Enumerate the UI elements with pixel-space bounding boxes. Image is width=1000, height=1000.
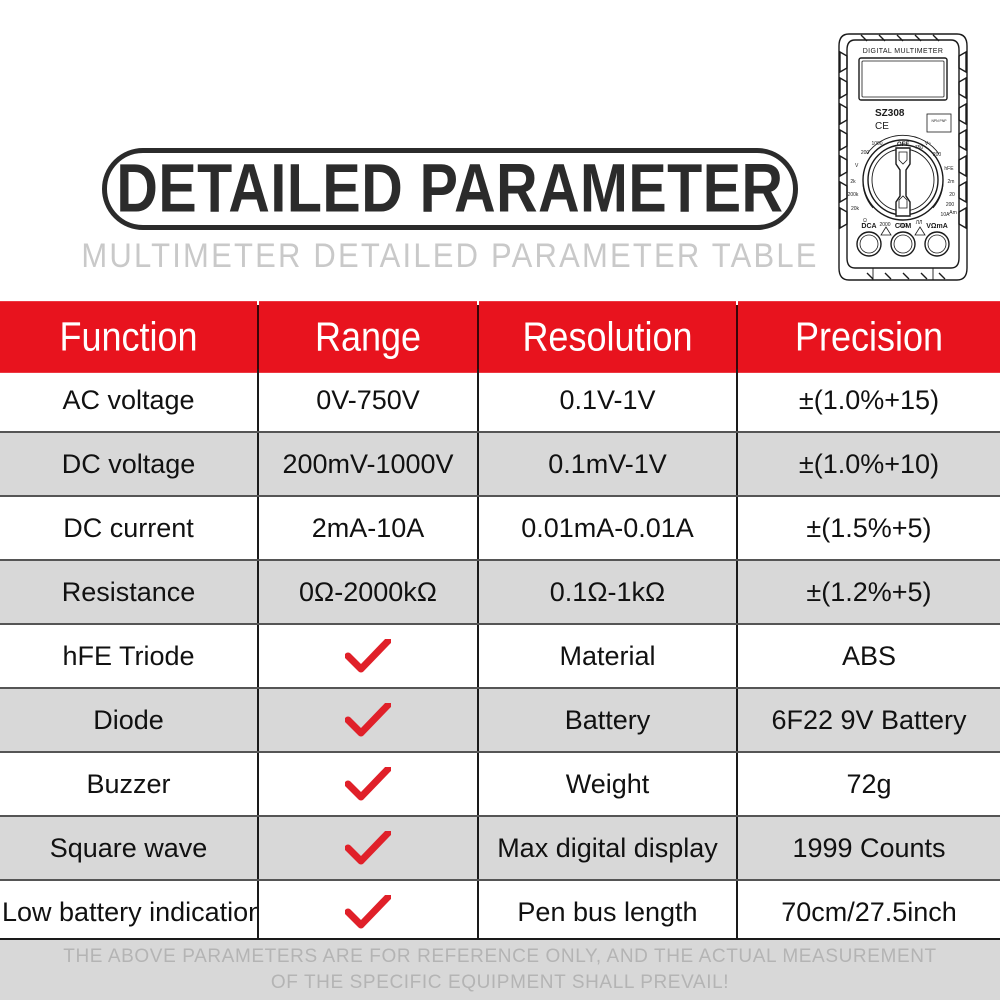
dial-off-label: OFF bbox=[897, 142, 909, 148]
table-row: DiodeBattery6F22 9V Battery bbox=[0, 688, 1000, 752]
table-cell: 0.01mA-0.01A bbox=[478, 496, 737, 560]
table-cell: DC current bbox=[0, 496, 258, 560]
table-cell: ABS bbox=[737, 624, 1000, 688]
table-row: DC current2mA-10A0.01mA-0.01A±(1.5%+5) bbox=[0, 496, 1000, 560]
dial-tick-vac: V~ bbox=[925, 141, 931, 147]
table-header-row: Function Range Resolution Precision bbox=[0, 305, 1000, 369]
supported-check-icon bbox=[258, 624, 478, 688]
column-header-precision: Precision bbox=[737, 301, 1000, 373]
dial-tick-vdc: V bbox=[855, 163, 859, 169]
table-cell: 6F22 9V Battery bbox=[737, 688, 1000, 752]
table-cell: Battery bbox=[478, 688, 737, 752]
dial-tick-hfe: hFE bbox=[944, 166, 954, 172]
table-cell: Diode bbox=[0, 688, 258, 752]
table-cell: Low battery indication bbox=[0, 880, 258, 944]
supported-check-icon bbox=[258, 816, 478, 880]
dial-tick-diode: 200 bbox=[899, 223, 908, 229]
jack-label-vohmma: VΩmA bbox=[926, 223, 948, 230]
dial-tick-200: 200 bbox=[861, 150, 870, 156]
supported-check-icon bbox=[258, 688, 478, 752]
multimeter-product-image: DIGITAL MULTIMETER SZ308 CE OFF DCA COM … bbox=[833, 28, 973, 286]
table-cell: ±(1.5%+5) bbox=[737, 496, 1000, 560]
header-banner: DETAILED PARAMETER MULTIMETER DETAILED P… bbox=[0, 0, 1000, 305]
table-cell: 1999 Counts bbox=[737, 816, 1000, 880]
disclaimer-note: THE ABOVE PARAMETERS ARE FOR REFERENCE O… bbox=[0, 938, 1000, 1000]
dial-tick-2000ohm: 2000 bbox=[879, 222, 890, 228]
table-cell: Resistance bbox=[0, 560, 258, 624]
table-cell: 200mV-1000V bbox=[258, 432, 478, 496]
table-cell: Material bbox=[478, 624, 737, 688]
dial-tick-200m: 200 bbox=[946, 202, 955, 208]
supported-check-icon bbox=[258, 752, 478, 816]
page-subtitle: MULTIMETER DETAILED PARAMETER TABLE bbox=[0, 236, 900, 276]
table-cell: 0.1V-1V bbox=[478, 369, 737, 432]
table-row: hFE TriodeMaterialABS bbox=[0, 624, 1000, 688]
dial-tick-1000: 1000 bbox=[871, 141, 882, 147]
column-header-function: Function bbox=[0, 301, 258, 373]
jack-label-dca: DCA bbox=[861, 223, 876, 230]
dial-tick-2m: 2m bbox=[948, 179, 955, 185]
table-cell: DC voltage bbox=[0, 432, 258, 496]
table-row: DC voltage200mV-1000V0.1mV-1V±(1.0%+10) bbox=[0, 432, 1000, 496]
title-pill: DETAILED PARAMETER bbox=[102, 148, 798, 230]
device-label: DIGITAL MULTIMETER bbox=[863, 48, 944, 55]
disclaimer-line-1: THE ABOVE PARAMETERS ARE FOR REFERENCE O… bbox=[63, 944, 937, 970]
dial-tick-am: Am bbox=[949, 210, 957, 216]
ce-mark-icon: CE bbox=[875, 121, 889, 132]
table-cell: ±(1.2%+5) bbox=[737, 560, 1000, 624]
column-header-range: Range bbox=[258, 301, 478, 373]
table-cell: 0Ω-2000kΩ bbox=[258, 560, 478, 624]
page-title: DETAILED PARAMETER bbox=[116, 155, 783, 223]
hfe-socket-labels: NPN PNP bbox=[931, 119, 947, 123]
table-row: AC voltage0V-750V0.1V-1V±(1.0%+15) bbox=[0, 369, 1000, 432]
device-model: SZ308 bbox=[875, 108, 905, 119]
specification-table: Function Range Resolution Precision AC v… bbox=[0, 305, 1000, 945]
table-cell: Max digital display bbox=[478, 816, 737, 880]
dial-tick-square: ЛЛ bbox=[916, 220, 923, 226]
table-cell: Pen bus length bbox=[478, 880, 737, 944]
dial-tick-200ac: 200 bbox=[933, 152, 942, 158]
supported-check-icon bbox=[258, 880, 478, 944]
table-row: Low battery indicationPen bus length70cm… bbox=[0, 880, 1000, 944]
table-cell: Weight bbox=[478, 752, 737, 816]
dial-tick-20k: 20k bbox=[851, 206, 860, 212]
dial-tick-2k: 2k bbox=[850, 179, 856, 185]
disclaimer-line-2: OF THE SPECIFIC EQUIPMENT SHALL PREVAIL! bbox=[271, 970, 729, 996]
table-row: Resistance0Ω-2000kΩ0.1Ω-1kΩ±(1.2%+5) bbox=[0, 560, 1000, 624]
dial-tick-200k: 200k bbox=[848, 192, 859, 198]
table-cell: 0V-750V bbox=[258, 369, 478, 432]
table-cell: 0.1mV-1V bbox=[478, 432, 737, 496]
table-cell: Square wave bbox=[0, 816, 258, 880]
table-cell: 2mA-10A bbox=[258, 496, 478, 560]
table-row: Square waveMax digital display1999 Count… bbox=[0, 816, 1000, 880]
table-cell: 72g bbox=[737, 752, 1000, 816]
dial-tick-20m: 20 bbox=[949, 192, 955, 198]
table-cell: Buzzer bbox=[0, 752, 258, 816]
table-cell: hFE Triode bbox=[0, 624, 258, 688]
dial-tick-750: 750 bbox=[915, 145, 924, 151]
table-cell: AC voltage bbox=[0, 369, 258, 432]
table-cell: ±(1.0%+10) bbox=[737, 432, 1000, 496]
table-cell: 0.1Ω-1kΩ bbox=[478, 560, 737, 624]
column-header-resolution: Resolution bbox=[478, 301, 737, 373]
table-cell: 70cm/27.5inch bbox=[737, 880, 1000, 944]
table-cell: ±(1.0%+15) bbox=[737, 369, 1000, 432]
table-row: BuzzerWeight72g bbox=[0, 752, 1000, 816]
dial-tick-ohm: Ω bbox=[863, 218, 867, 224]
